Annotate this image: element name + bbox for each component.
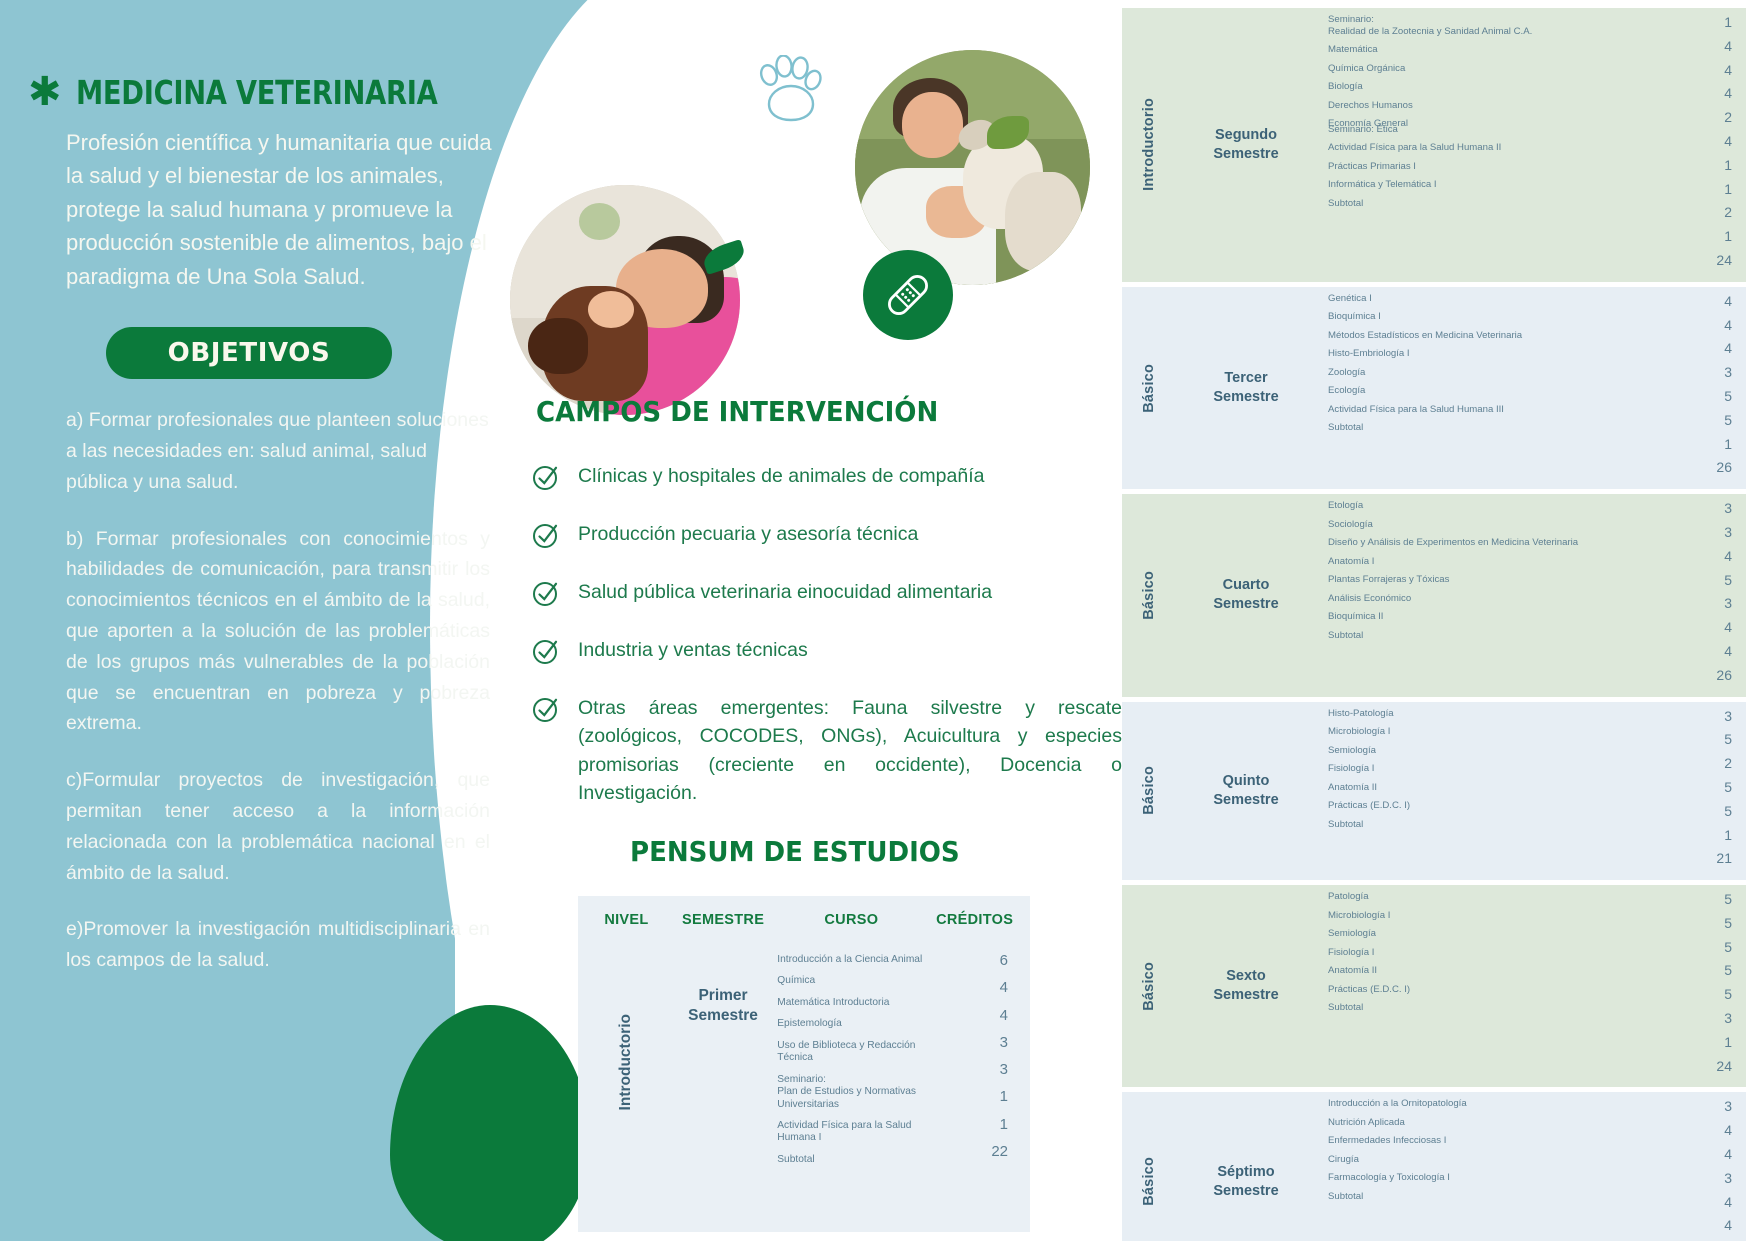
course-credits: 4 [1670,1146,1732,1163]
campos-de-intervencion-heading: CAMPOS DE INTERVENCIÓN [536,395,938,428]
course-name: Etología [1328,500,1666,512]
bandage-icon [863,250,953,340]
course-name: Subtotal [1328,819,1666,831]
course-credits: 24 [1670,1058,1732,1075]
objective-item: a) Formar profesionales que planteen sol… [66,405,490,497]
campo-text: Salud pública veterinaria einocuidad ali… [578,578,992,606]
check-circle-icon [532,695,560,723]
course-credits: 3 [951,1061,1008,1079]
course-credits: 4 [1670,1194,1732,1211]
course-credits: 3 [1670,595,1732,612]
course-name: Derechos Humanos [1328,100,1666,112]
course-credits: 1 [1670,157,1732,174]
objective-item: b) Formar profesionales con conocimiento… [66,524,490,740]
pensum-table-header: NIVEL SEMESTRE CURSO CRÉDITOS [578,896,1030,928]
course-name: Enfermedades Infecciosas I [1328,1135,1666,1147]
course-name: Semiología [1328,928,1666,940]
campo-text: Otras áreas emergentes: Fauna silvestre … [578,694,1122,807]
course-name: Ecología [1328,385,1666,397]
curriculum-credits-cell: 35255121 [1670,702,1746,881]
course-name: Histo-Embriología I [1328,348,1666,360]
check-circle-icon [532,463,560,491]
objetivos-heading-pill: OBJETIVOS [106,327,392,379]
column-header-nivel: NIVEL [584,912,669,928]
pensum-table-row: Introductorio Primer Semestre Introducci… [578,928,1030,1175]
course-name: Patología [1328,891,1666,903]
page-title: MEDICINA VETERINARIA [76,73,437,112]
course-name: Sociología [1328,519,1666,531]
course-credits: 5 [1670,388,1732,405]
curriculum-table: IntroductorioSegundo SemestreSeminario: … [1122,8,1746,1234]
course-name: Bioquímica I [1328,311,1666,323]
course-name: Fisiología I [1328,947,1666,959]
pensum-courses-cell: Introducción a la Ciencia Animal Química… [777,950,951,1175]
course-name: Microbiología I [1328,910,1666,922]
pensum-nivel-label: Introductorio [617,1014,635,1110]
curriculum-courses-cell: Seminario: Realidad de la Zootecnia y Sa… [1316,8,1670,282]
course-credits: 5 [1670,939,1732,956]
curriculum-semester-label: Cuarto Semestre [1176,494,1316,696]
curriculum-level-label: Básico [1141,1157,1157,1206]
curriculum-semester-label: Quinto Semestre [1176,702,1316,881]
curriculum-level-label: Básico [1141,571,1157,620]
curriculum-semester-label: Segundo Semestre [1176,8,1316,282]
course-credits: 3 [1670,1010,1732,1027]
course-name: Subtotal [1328,422,1666,434]
course-credits: 5 [1670,412,1732,429]
objetivos-label: OBJETIVOS [168,338,331,368]
course-credits: 4 [1670,85,1732,102]
course-credits: 5 [1670,779,1732,796]
campo-text: Industria y ventas técnicas [578,636,808,664]
course-name: Actividad Física para la Salud Humana II… [1328,404,1666,416]
course-credits: 24 [1670,252,1732,269]
course-credits: 5 [1670,572,1732,589]
course-name: Química [777,975,951,987]
course-credits: 4 [1670,619,1732,636]
course-credits: 5 [1670,962,1732,979]
course-credits: 1 [1670,181,1732,198]
asterisk-icon: ✱ [28,72,62,112]
curriculum-semester-block: BásicoSéptimo SemestreIntroducción a la … [1122,1092,1746,1241]
course-credits: 3 [1670,500,1732,517]
curriculum-semester-block: BásicoQuinto SemestreHisto-PatologíaMicr… [1122,702,1746,881]
course-credits: 4 [1670,317,1732,334]
campo-text: Producción pecuaria y asesoría técnica [578,520,918,548]
curriculum-courses-cell: EtologíaSociologíaDiseño y Análisis de E… [1316,494,1670,696]
objective-item: c)Formular proyectos de investigación, q… [66,765,490,888]
curriculum-courses-cell: Histo-PatologíaMicrobiología ISemiología… [1316,702,1670,881]
campo-text: Clínicas y hospitales de animales de com… [578,462,984,490]
course-credits: 5 [1670,891,1732,908]
course-name: Cirugía [1328,1154,1666,1166]
course-name: Biología [1328,81,1666,93]
course-name: Matemática [1328,44,1666,56]
course-name: Farmacología y Toxicología I [1328,1172,1666,1184]
campo-list-item: Otras áreas emergentes: Fauna silvestre … [532,694,1122,807]
course-credits: 1 [1670,14,1732,31]
curriculum-credits-cell: 34434422 [1670,1092,1746,1241]
course-credits: 3 [1670,364,1732,381]
course-credits: 5 [1670,803,1732,820]
course-credits: 2 [1670,755,1732,772]
course-credits: 4 [1670,1217,1732,1234]
course-credits: 1 [951,1088,1008,1106]
course-credits: 3 [1670,524,1732,541]
course-credits: 2 [1670,204,1732,221]
curriculum-semester-block: BásicoTercer SemestreGenética IBioquímic… [1122,287,1746,489]
course-credits: 26 [1670,459,1732,476]
curriculum-level-label: Básico [1141,962,1157,1011]
curriculum-courses-cell: Genética IBioquímica IMétodos Estadístic… [1316,287,1670,489]
course-name: Fisiología I [1328,763,1666,775]
course-name: Prácticas Primarias I [1328,161,1666,173]
course-credits: 1 [1670,827,1732,844]
curriculum-credits-cell: 555553124 [1670,885,1746,1087]
course-credits: 21 [1670,850,1732,867]
objective-item: e)Promover la investigación multidiscipl… [66,914,490,976]
course-name: Matemática Introductoria [777,997,951,1009]
course-credits: 3 [951,1034,1008,1052]
course-name: Semiología [1328,745,1666,757]
left-panel-content: ✱ MEDICINA VETERINARIA Profesión científ… [0,0,520,1241]
campo-list-item: Industria y ventas técnicas [532,636,1122,665]
curriculum-semester-label: Séptimo Semestre [1176,1092,1316,1241]
course-name: Plantas Forrajeras y Tóxicas [1328,574,1666,586]
column-header-creditos: CRÉDITOS [925,912,1024,928]
course-credits: 22 [951,1143,1008,1161]
course-name: Subtotal [1328,198,1666,210]
pensum-nivel-cell: Introductorio [584,950,669,1175]
course-credits: 3 [1670,708,1732,725]
course-credits: 1 [1670,436,1732,453]
course-credits: 1 [951,1116,1008,1134]
column-header-semestre: SEMESTRE [669,912,778,928]
course-credits: 5 [1670,986,1732,1003]
curriculum-credits-cell: 144424112124 [1670,8,1746,282]
course-credits: 6 [951,952,1008,970]
pensum-semestre-cell: Primer Semestre [669,950,777,1175]
campo-list-item: Salud pública veterinaria einocuidad ali… [532,578,1122,607]
course-credits: 4 [1670,643,1732,660]
course-name: Prácticas (E.D.C. I) [1328,800,1666,812]
course-name: Subtotal [777,1154,951,1166]
curriculum-courses-cell: Introducción a la OrnitopatologíaNutrici… [1316,1092,1670,1241]
curriculum-credits-cell: 334534426 [1670,494,1746,696]
course-credits: 3 [1670,1170,1732,1187]
course-credits: 4 [1670,1122,1732,1139]
course-credits: 4 [1670,340,1732,357]
objectives-list: a) Formar profesionales que planteen sol… [0,379,520,976]
pensum-credits-cell: 6 4 4 3 3 1 1 22 [951,950,1024,1175]
course-name: Diseño y Análisis de Experimentos en Med… [1328,537,1666,549]
course-credits: 4 [1670,293,1732,310]
course-name: Introducción a la Ciencia Animal [777,954,951,966]
campo-list-item: Producción pecuaria y asesoría técnica [532,520,1122,549]
course-name: Análisis Económico [1328,593,1666,605]
curriculum-courses-cell: PatologíaMicrobiología ISemiologíaFisiol… [1316,885,1670,1087]
course-name: Actividad Física para la Salud Humana II [1328,142,1666,154]
check-circle-icon [532,637,560,665]
curriculum-credits-cell: 444355126 [1670,287,1746,489]
course-credits: 5 [1670,731,1732,748]
curriculum-semester-block: BásicoCuarto SemestreEtologíaSociologíaD… [1122,494,1746,696]
course-credits: 1 [1670,1034,1732,1051]
course-credits: 4 [951,1007,1008,1025]
course-name: Subtotal [1328,1002,1666,1014]
course-name: Subtotal [1328,630,1666,642]
course-name: Seminario: Realidad de la Zootecnia y Sa… [1328,14,1666,37]
course-credits: 4 [1670,548,1732,565]
photo-vet-with-dog [510,185,740,415]
course-credits: 1 [1670,228,1732,245]
check-circle-icon [532,579,560,607]
check-circle-icon [532,521,560,549]
course-name: Epistemología [777,1018,951,1030]
course-credits: 26 [1670,667,1732,684]
campos-de-intervencion-list: Clínicas y hospitales de animales de com… [532,462,1122,836]
brochure-page: ✱ MEDICINA VETERINARIA Profesión científ… [0,0,1754,1241]
curriculum-level-label: Básico [1141,364,1157,413]
course-name: Seminario: Ética [1328,124,1666,136]
course-name: Anatomía I [1328,556,1666,568]
course-name: Subtotal [1328,1191,1666,1203]
curriculum-level-label: Básico [1141,766,1157,815]
course-name: Seminario: Plan de Estudios y Normativas… [777,1074,951,1111]
course-name: Métodos Estadísticos en Medicina Veterin… [1328,330,1666,342]
photo-vet-with-goats [855,50,1090,285]
course-name: Introducción a la Ornitopatología [1328,1098,1666,1110]
course-name: Prácticas (E.D.C. I) [1328,984,1666,996]
course-name: Actividad Física para la Salud Humana I [777,1120,951,1145]
course-name: Bioquímica II [1328,611,1666,623]
course-credits: 2 [1670,109,1732,126]
pensum-first-semester-table: NIVEL SEMESTRE CURSO CRÉDITOS Introducto… [578,896,1030,1232]
course-name: Anatomía II [1328,965,1666,977]
paw-print-icon [755,55,825,129]
curriculum-semester-label: Sexto Semestre [1176,885,1316,1087]
course-name: Informática y Telemática I [1328,179,1666,191]
course-name: Nutrición Aplicada [1328,1117,1666,1129]
course-name: Microbiología I [1328,726,1666,738]
title-row: ✱ MEDICINA VETERINARIA [0,0,520,112]
course-name: Zoología [1328,367,1666,379]
course-name: Genética I [1328,293,1666,305]
course-name: Histo-Patología [1328,708,1666,720]
course-credits: 4 [1670,38,1732,55]
middle-panel: CAMPOS DE INTERVENCIÓN Clínicas y hospit… [500,0,1140,1241]
course-credits: 4 [1670,133,1732,150]
course-name: Química Orgánica [1328,63,1666,75]
curriculum-semester-block: BásicoSexto SemestrePatologíaMicrobiolog… [1122,885,1746,1087]
campo-list-item: Clínicas y hospitales de animales de com… [532,462,1122,491]
curriculum-semester-block: IntroductorioSegundo SemestreSeminario: … [1122,8,1746,282]
course-name: Anatomía II [1328,782,1666,794]
course-name: Uso de Biblioteca y Redacción Técnica [777,1040,951,1065]
intro-paragraph: Profesión científica y humanitaria que c… [0,112,520,293]
pensum-de-estudios-heading: PENSUM DE ESTUDIOS [630,835,960,868]
course-credits: 4 [1670,62,1732,79]
column-header-curso: CURSO [777,912,925,928]
course-credits: 3 [1670,1098,1732,1115]
course-credits: 4 [951,979,1008,997]
curriculum-semester-label: Tercer Semestre [1176,287,1316,489]
course-credits: 5 [1670,915,1732,932]
curriculum-level-label: Introductorio [1141,98,1157,191]
